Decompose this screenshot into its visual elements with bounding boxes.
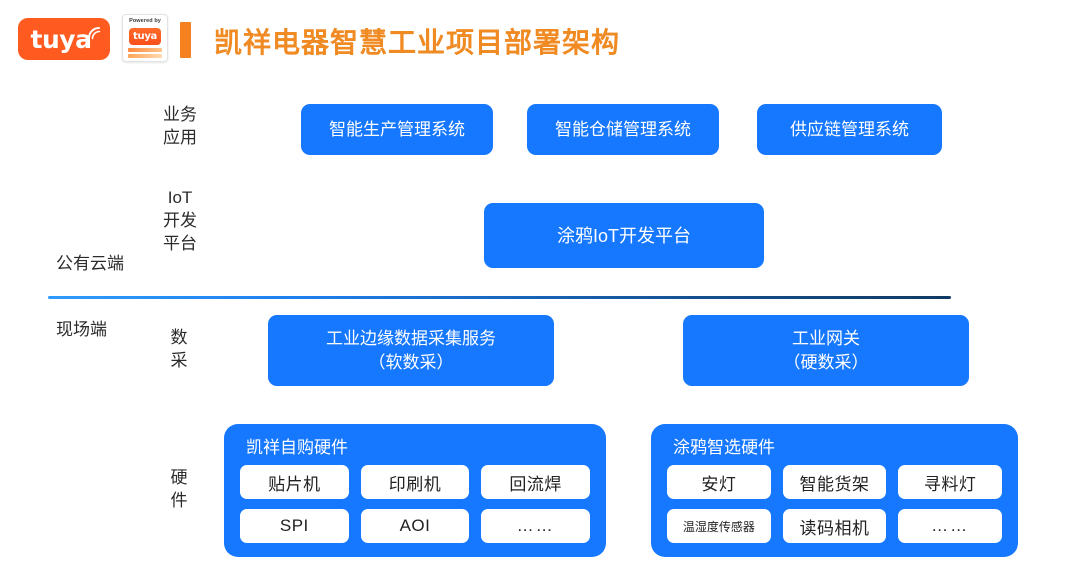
data-collection-box[interactable]: 工业网关 （硬数采） [683, 315, 969, 386]
hardware-chip[interactable]: …… [898, 509, 1002, 543]
page-header: tuya Powered by tuya 凯祥电器智慧工业项目部署架构 [0, 0, 1080, 82]
powered-by-label: Powered by [123, 18, 167, 24]
hardware-panel-title: 涂鸦智选硬件 [673, 433, 775, 458]
business-app-box[interactable]: 供应链管理系统 [757, 104, 942, 155]
side-label-iot-platform: IoT 开发 平台 [156, 186, 204, 255]
powered-badge-wordmark: tuya [129, 28, 161, 45]
side-label-public-cloud: 公有云端 [56, 252, 152, 275]
hardware-chip[interactable]: 印刷机 [361, 465, 470, 499]
hardware-chip[interactable]: AOI [361, 509, 470, 543]
hardware-panel: 涂鸦智选硬件 安灯智能货架寻料灯温湿度传感器读码相机…… [651, 424, 1018, 557]
hardware-chip[interactable]: SPI [240, 509, 349, 543]
hardware-chip-grid: 贴片机印刷机回流焊SPIAOI…… [240, 465, 590, 543]
page-title: 凯祥电器智慧工业项目部署架构 [214, 21, 620, 61]
hardware-chip[interactable]: 寻料灯 [898, 465, 1002, 499]
wifi-arc-icon [88, 27, 101, 40]
hardware-chip[interactable]: 安灯 [667, 465, 771, 499]
powered-badge-stripe-bottom [128, 54, 162, 58]
powered-badge-stripe-top [128, 48, 162, 52]
business-app-box[interactable]: 智能生产管理系统 [301, 104, 493, 155]
hardware-chip[interactable]: 温湿度传感器 [667, 509, 771, 543]
business-app-box[interactable]: 智能仓储管理系统 [527, 104, 719, 155]
data-collection-box[interactable]: 工业边缘数据采集服务 （软数采） [268, 315, 554, 386]
powered-by-tuya-badge: Powered by tuya [122, 14, 168, 62]
iot-platform-box[interactable]: 涂鸦IoT开发平台 [484, 203, 764, 268]
tuya-logo: tuya [18, 18, 110, 60]
hardware-chip-grid: 安灯智能货架寻料灯温湿度传感器读码相机…… [667, 465, 1002, 543]
hardware-chip[interactable]: 贴片机 [240, 465, 349, 499]
title-accent-bar [180, 22, 191, 58]
hardware-chip[interactable]: …… [481, 509, 590, 543]
hardware-chip[interactable]: 回流焊 [481, 465, 590, 499]
hardware-chip[interactable]: 智能货架 [783, 465, 887, 499]
side-label-data-collection: 数 采 [166, 326, 192, 372]
hardware-panel: 凯祥自购硬件 贴片机印刷机回流焊SPIAOI…… [224, 424, 606, 557]
hardware-panel-title: 凯祥自购硬件 [246, 433, 348, 458]
side-label-field-side: 现场端 [56, 318, 152, 341]
hardware-chip[interactable]: 读码相机 [783, 509, 887, 543]
side-label-business-apps: 业务 应用 [156, 103, 204, 149]
side-label-hardware: 硬 件 [166, 466, 192, 512]
cloud-field-divider [48, 296, 951, 299]
